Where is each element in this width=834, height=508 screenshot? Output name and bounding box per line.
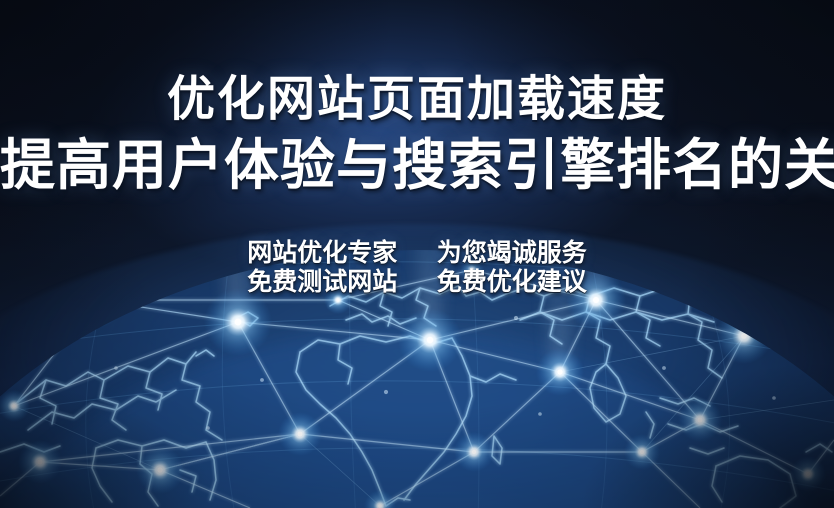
banner-copy: 优化网站页面加载速度 提高用户体验与搜索引擎排名的关键 网站优化专家 为您竭诚服… (0, 0, 834, 508)
subheadline-row-2: 免费测试网站 免费优化建议 (0, 267, 834, 296)
seo-promo-banner: 优化网站页面加载速度 提高用户体验与搜索引擎排名的关键 网站优化专家 为您竭诚服… (0, 0, 834, 508)
subheadline-row-1-right: 为您竭诚服务 (437, 238, 587, 267)
headline-line-1: 优化网站页面加载速度 (0, 72, 834, 126)
subheadline-row-2-left: 免费测试网站 (247, 267, 397, 296)
headline-line-2: 提高用户体验与搜索引擎排名的关键 (0, 134, 834, 196)
subheadline-row-1: 网站优化专家 为您竭诚服务 (0, 238, 834, 267)
subheadline-row-1-left: 网站优化专家 (247, 238, 397, 267)
subheadline-row-2-right: 免费优化建议 (437, 267, 587, 296)
